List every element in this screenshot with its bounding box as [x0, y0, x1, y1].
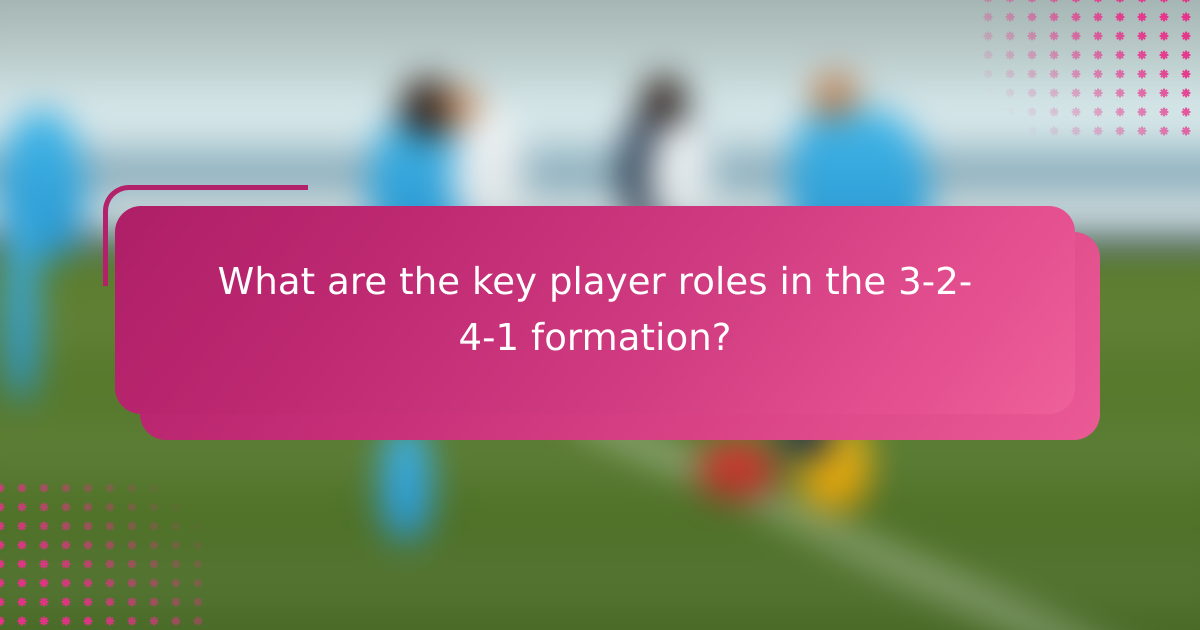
- player-boot-red: [698, 440, 776, 498]
- grass-mow-band: [0, 551, 1200, 611]
- player-head-navy: [642, 76, 686, 124]
- question-text: What are the key player roles in the 3-2…: [215, 254, 975, 366]
- question-card: What are the key player roles in the 3-2…: [115, 206, 1075, 414]
- share-card-canvas: What are the key player roles in the 3-2…: [0, 0, 1200, 630]
- player-leg-blue-left: [4, 210, 38, 400]
